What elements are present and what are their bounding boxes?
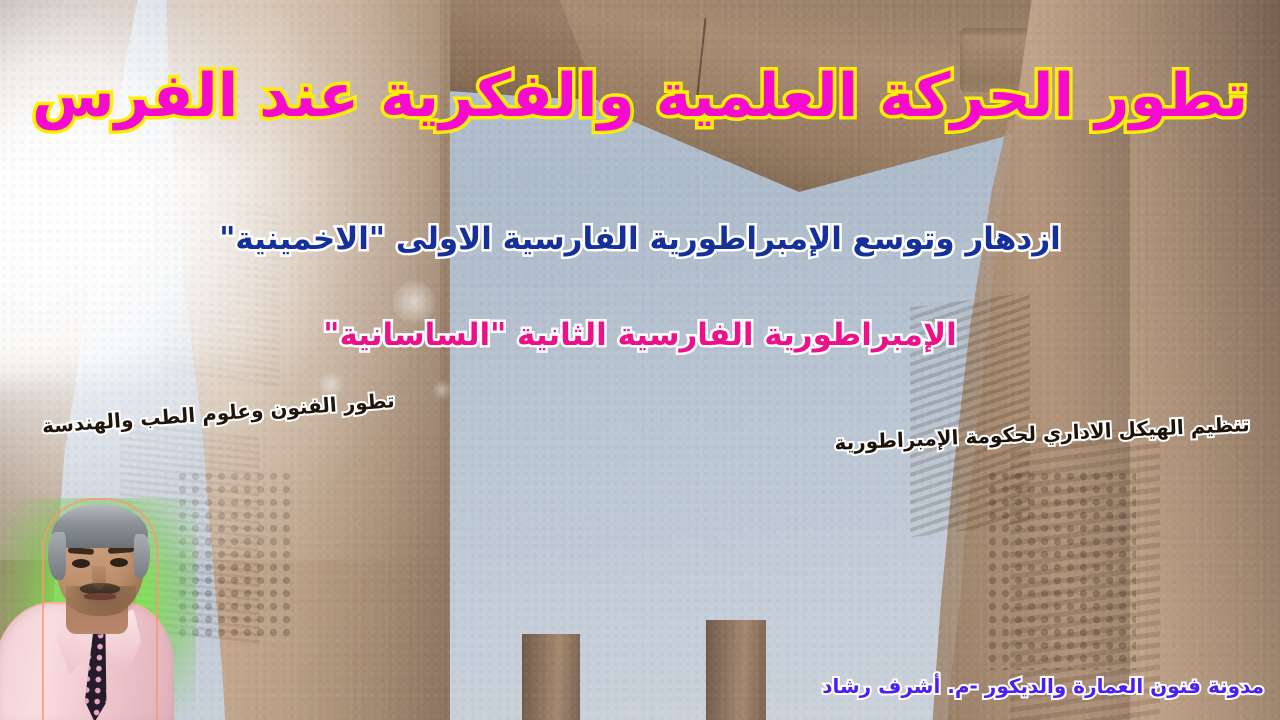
eye-left <box>72 559 90 568</box>
eye-right <box>110 558 128 567</box>
hair-side-right <box>134 534 150 578</box>
blog-credit-line: مدونة فنون العمارة والديكور -م. أشرف رشا… <box>822 676 1264 696</box>
slide-subtitle-first-empire: ازدهار وتوسع الإمبراطورية الفارسية الاول… <box>0 224 1280 255</box>
hair-side-left <box>48 532 66 580</box>
mouth <box>84 593 116 600</box>
slide-subtitle-second-empire: الإمبراطورية الفارسية الثانية "الساسانية… <box>0 320 1280 351</box>
presentation-slide: تطور الحركة العلمية والفكرية عند الفرس ا… <box>0 0 1280 720</box>
broken-block-right <box>706 620 766 720</box>
right-pillar-stud-pattern <box>986 470 1136 670</box>
presenter-photo <box>0 498 196 720</box>
slide-title: تطور الحركة العلمية والفكرية عند الفرس <box>0 66 1280 126</box>
presenter-figure <box>0 498 196 720</box>
nose <box>92 566 106 590</box>
broken-block-left <box>522 634 580 720</box>
